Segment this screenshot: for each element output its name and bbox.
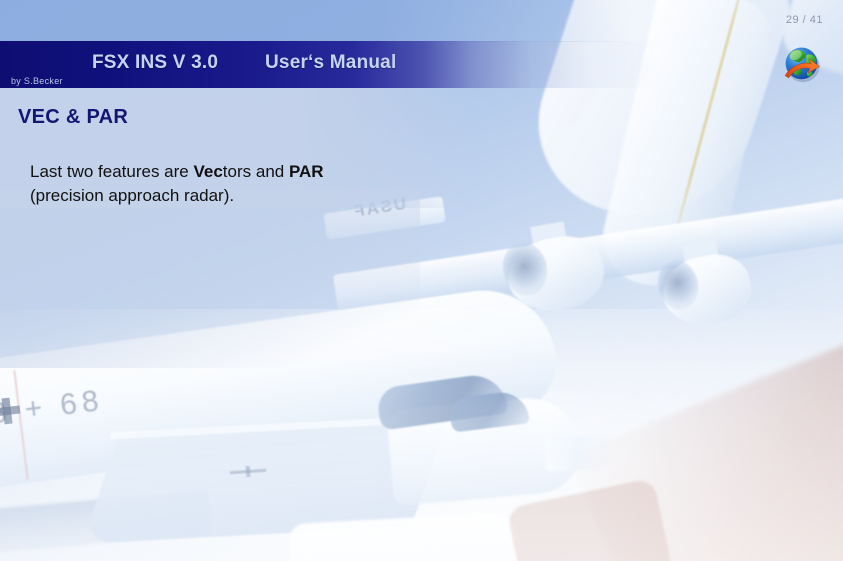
- banner-title: FSX INS V 3.0: [92, 52, 218, 74]
- slide: USAF 38 + 68 FSX INS V 3.0 User‘s Manual: [0, 0, 843, 561]
- page-title: VEC & PAR: [18, 106, 128, 129]
- banner-subtitle: User‘s Manual: [265, 52, 396, 74]
- body-line1-part1: Last two features are: [30, 162, 193, 181]
- body-line1-bold-vec: Vec: [193, 162, 222, 181]
- banner-author: by S.Becker: [11, 76, 63, 86]
- page-number: 29 / 41: [786, 14, 823, 26]
- body-text-line-2: (precision approach radar).: [30, 184, 324, 208]
- title-banner: FSX INS V 3.0 User‘s Manual by S.Becker: [0, 41, 843, 88]
- body-text-line-1: Last two features are Vectors and PAR: [30, 160, 324, 184]
- body-line1-bold-par: PAR: [289, 162, 324, 181]
- body-text: Last two features are Vectors and PAR (p…: [30, 160, 324, 208]
- phantom-aircraft: 38 + 68: [0, 350, 660, 561]
- iron-cross-insignia: [0, 397, 21, 426]
- body-line1-part2: tors and: [223, 162, 289, 181]
- globe-web-icon[interactable]: [778, 40, 825, 87]
